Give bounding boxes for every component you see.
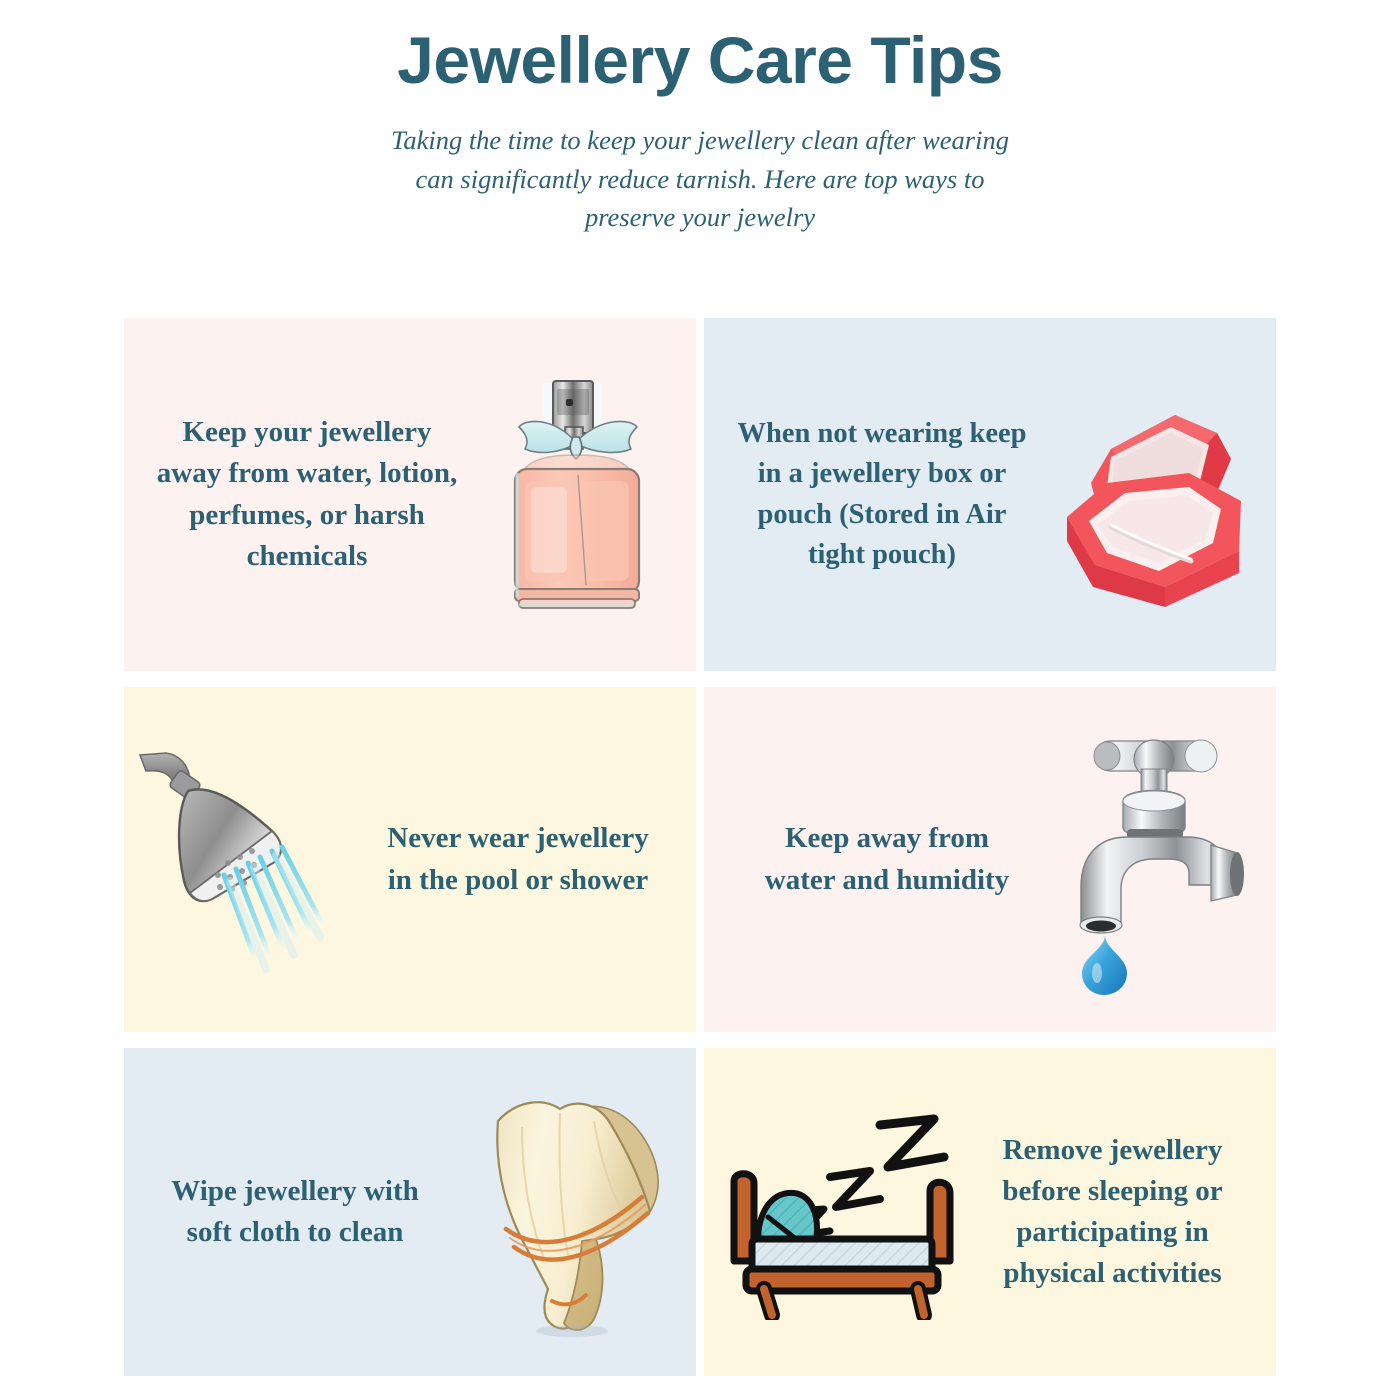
tip-card-3: Never wear jewellery in the pool or show…	[124, 687, 696, 1032]
tip-card-5: Wipe jewellery with soft cloth to clean	[124, 1048, 696, 1376]
page-subtitle: Taking the time to keep your jewellery c…	[380, 121, 1020, 236]
tip-card-3-text: Never wear jewellery in the pool or show…	[374, 818, 696, 900]
tip-card-2: When not wearing keep in a jewellery box…	[704, 318, 1276, 671]
tip-card-2-text: When not wearing keep in a jewellery box…	[704, 414, 1036, 576]
tip-card-6-text: Remove jewellery before sleeping or part…	[969, 1130, 1276, 1295]
shower-head-icon	[124, 735, 374, 985]
tips-grid: Keep your jewellery away from water, lot…	[124, 318, 1276, 1376]
tip-card-5-text: Wipe jewellery with soft cloth to clean	[124, 1171, 446, 1253]
bed-sleeping-icon	[704, 1105, 969, 1320]
cloth-icon	[446, 1087, 696, 1337]
tip-card-1-text: Keep your jewellery away from water, lot…	[124, 412, 466, 577]
header: Jewellery Care Tips Taking the time to k…	[0, 0, 1400, 237]
faucet-drip-icon	[1036, 725, 1276, 995]
infographic-page: Jewellery Care Tips Taking the time to k…	[0, 0, 1400, 1400]
page-title: Jewellery Care Tips	[0, 26, 1400, 95]
tip-card-4-text: Keep away from water and humidity	[704, 818, 1036, 900]
tip-card-4: Keep away from water and humidity	[704, 687, 1276, 1032]
tip-card-1: Keep your jewellery away from water, lot…	[124, 318, 696, 671]
ring-box-icon	[1036, 375, 1276, 615]
perfume-bottle-icon	[466, 365, 696, 625]
tip-card-6: Remove jewellery before sleeping or part…	[704, 1048, 1276, 1376]
